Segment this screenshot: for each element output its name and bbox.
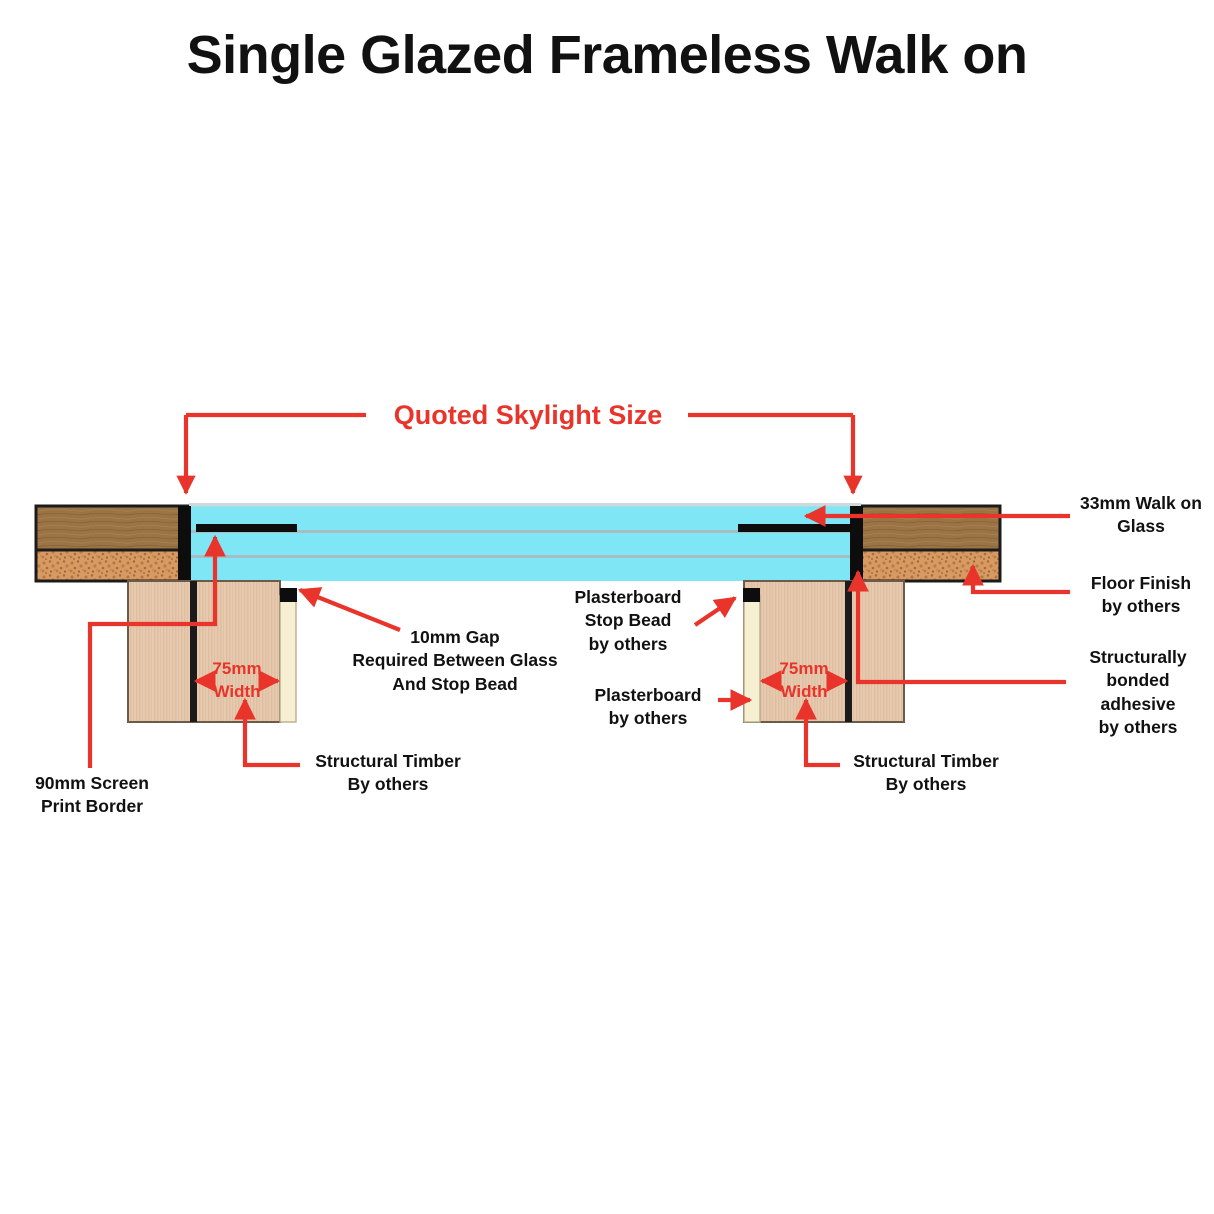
label-plasterboard: Plasterboard by others bbox=[578, 684, 718, 731]
leader-structural-timber-left bbox=[245, 700, 300, 765]
label-floor-finish: Floor Finish by others bbox=[1068, 572, 1214, 619]
label-walk-on-glass: 33mm Walk on Glass bbox=[1068, 492, 1214, 539]
label-screen-print-border: 90mm Screen Print Border bbox=[18, 772, 166, 819]
diagram-canvas: Single Glazed Frameless Walk on bbox=[0, 0, 1214, 1214]
label-structural-timber-right: Structural Timber By others bbox=[840, 750, 1012, 797]
leader-structural-timber-right bbox=[806, 700, 840, 765]
leader-screen-print-border bbox=[90, 537, 215, 768]
label-structural-adhesive: Structurally bonded adhesive by others bbox=[1062, 646, 1214, 739]
dimension-label-75mm-right: 75mm Width bbox=[754, 658, 854, 704]
dimension-label-75mm-left: 75mm Width bbox=[187, 658, 287, 704]
leader-structural-adhesive bbox=[858, 572, 1066, 682]
label-plasterboard-stop-bead: Plasterboard Stop Bead by others bbox=[548, 586, 708, 656]
label-quoted-skylight-size: Quoted Skylight Size bbox=[300, 400, 756, 431]
label-structural-timber-left: Structural Timber By others bbox=[302, 750, 474, 797]
leader-floor-finish bbox=[973, 566, 1070, 592]
leader-gap-note bbox=[300, 590, 400, 630]
